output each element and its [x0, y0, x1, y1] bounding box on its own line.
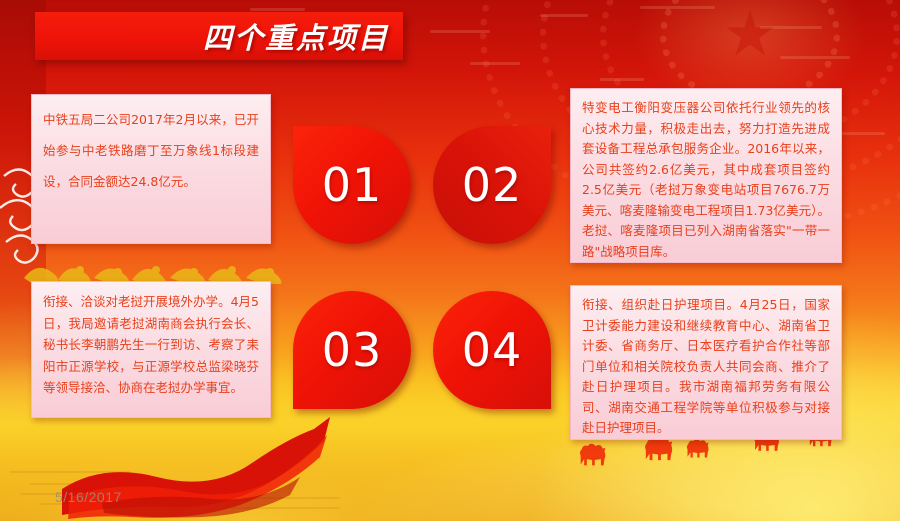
number-badge-03[interactable]: 03 — [293, 291, 411, 409]
badge-label: 04 — [462, 323, 523, 377]
camel-icon — [575, 438, 611, 468]
number-badge-04[interactable]: 04 — [433, 291, 551, 409]
footer-date: 5/16/2017 — [55, 489, 122, 505]
badge-label: 03 — [322, 323, 383, 377]
panel-text: 特变电工衡阳变压器公司依托行业领先的核心技术力量，积极走出去，努力打造先进成套设… — [582, 98, 830, 262]
badge-label: 01 — [322, 158, 383, 212]
content-panel-bottom-right: 衔接、组织赴日护理项目。4月25日，国家卫计委能力建设和继续教育中心、湖南省卫计… — [570, 285, 842, 440]
number-badge-01[interactable]: 01 — [293, 126, 411, 244]
title-banner: 四个重点项目 — [35, 12, 403, 60]
panel-text: 中铁五局二公司2017年2月以来，已开始参与中老铁路磨丁至万象线1标段建设，合同… — [43, 104, 259, 197]
panel-text: 衔接、组织赴日护理项目。4月25日，国家卫计委能力建设和继续教育中心、湖南省卫计… — [582, 295, 830, 439]
gold-ornament-band — [24, 248, 289, 284]
content-panel-top-right: 特变电工衡阳变压器公司依托行业领先的核心技术力量，积极走出去，努力打造先进成套设… — [570, 88, 842, 263]
badge-label: 02 — [462, 158, 523, 212]
presentation-slide: ★ — [0, 0, 900, 521]
content-panel-top-left: 中铁五局二公司2017年2月以来，已开始参与中老铁路磨丁至万象线1标段建设，合同… — [31, 94, 271, 244]
page-title: 四个重点项目 — [203, 15, 389, 57]
number-badge-02[interactable]: 02 — [433, 126, 551, 244]
panel-text: 衔接、洽谈对老挝开展境外办学。4月5日，我局邀请老挝湖南商会执行会长、秘书长李朝… — [43, 291, 259, 399]
content-panel-bottom-left: 衔接、洽谈对老挝开展境外办学。4月5日，我局邀请老挝湖南商会执行会长、秘书长李朝… — [31, 281, 271, 418]
